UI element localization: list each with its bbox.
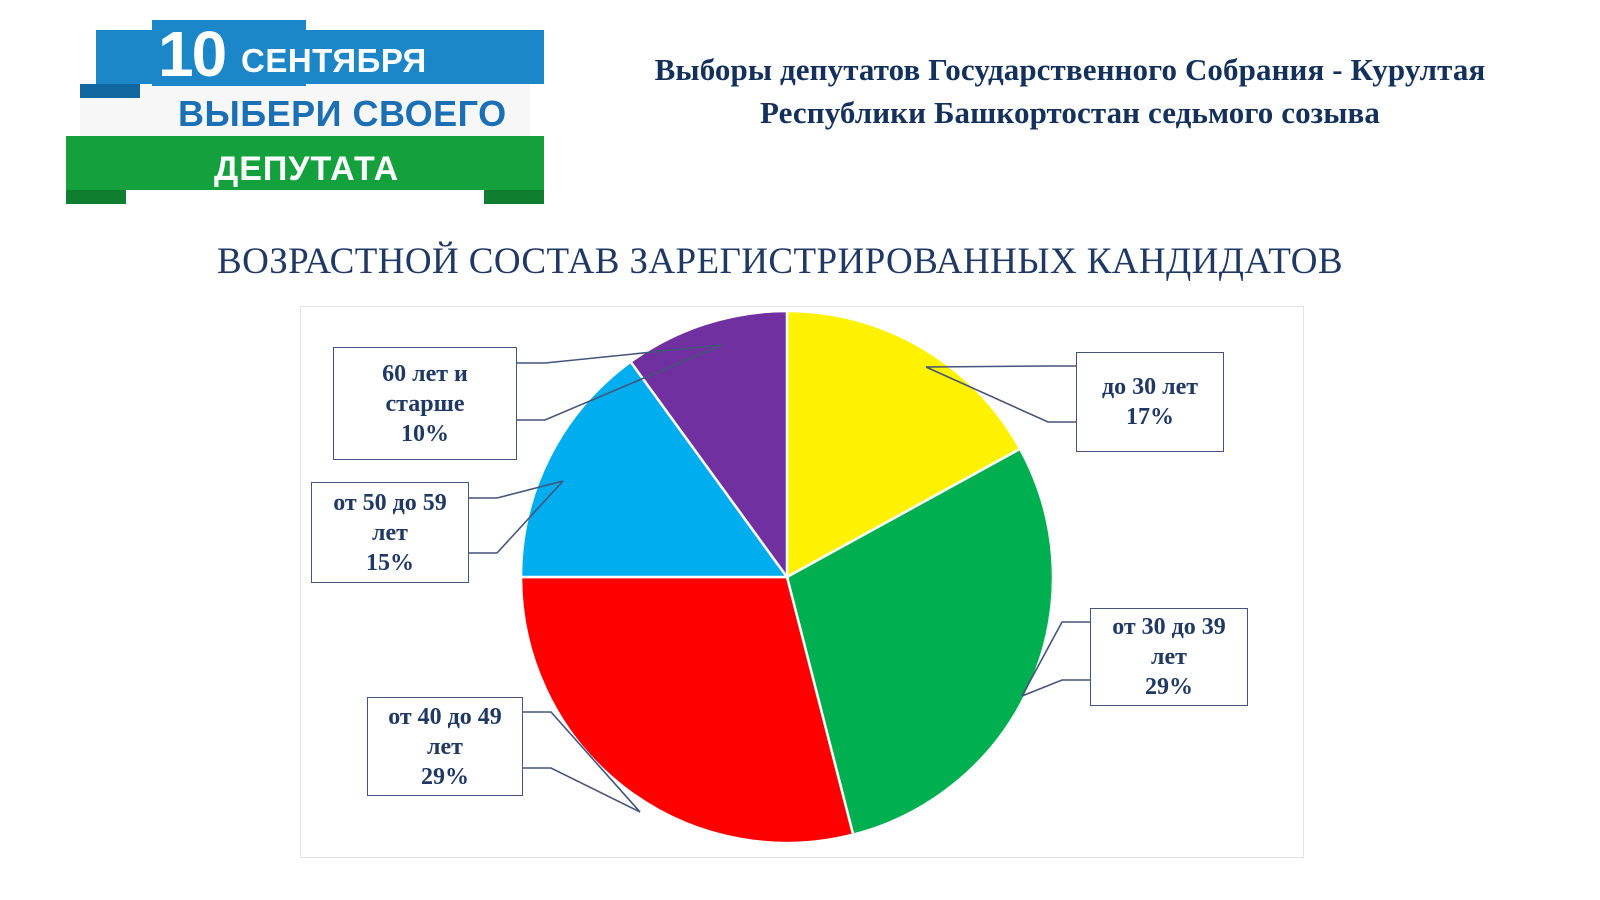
election-logo-banner: 10 СЕНТЯБРЯ ВЫБЕРИ СВОЕГО ДЕПУТАТА (66, 14, 544, 204)
pie-label-40-49: от 40 до 49 лет 29% (367, 697, 523, 796)
logo-line2-text: ВЫБЕРИ СВОЕГО (178, 93, 507, 134)
page-title: Выборы депутатов Государственного Собран… (620, 48, 1520, 134)
pie-label-60-plus: 60 лет и старше 10% (333, 347, 517, 460)
logo-line3-text: ДЕПУТАТА (214, 150, 399, 188)
pie-label-30-39: от 30 до 39 лет 29% (1090, 608, 1248, 706)
pie-slices-group (521, 311, 1053, 843)
logo-month-text: СЕНТЯБРЯ (241, 42, 427, 79)
pie-label-under-30: до 30 лет 17% (1076, 352, 1224, 452)
chart-heading: ВОЗРАСТНОЙ СОСТАВ ЗАРЕГИСТРИРОВАННЫХ КАН… (120, 240, 1440, 283)
logo-artwork: 10 СЕНТЯБРЯ ВЫБЕРИ СВОЕГО ДЕПУТАТА (66, 14, 544, 204)
logo-day-number: 10 (158, 18, 225, 90)
pie-label-50-59: от 50 до 59 лет 15% (311, 482, 469, 583)
